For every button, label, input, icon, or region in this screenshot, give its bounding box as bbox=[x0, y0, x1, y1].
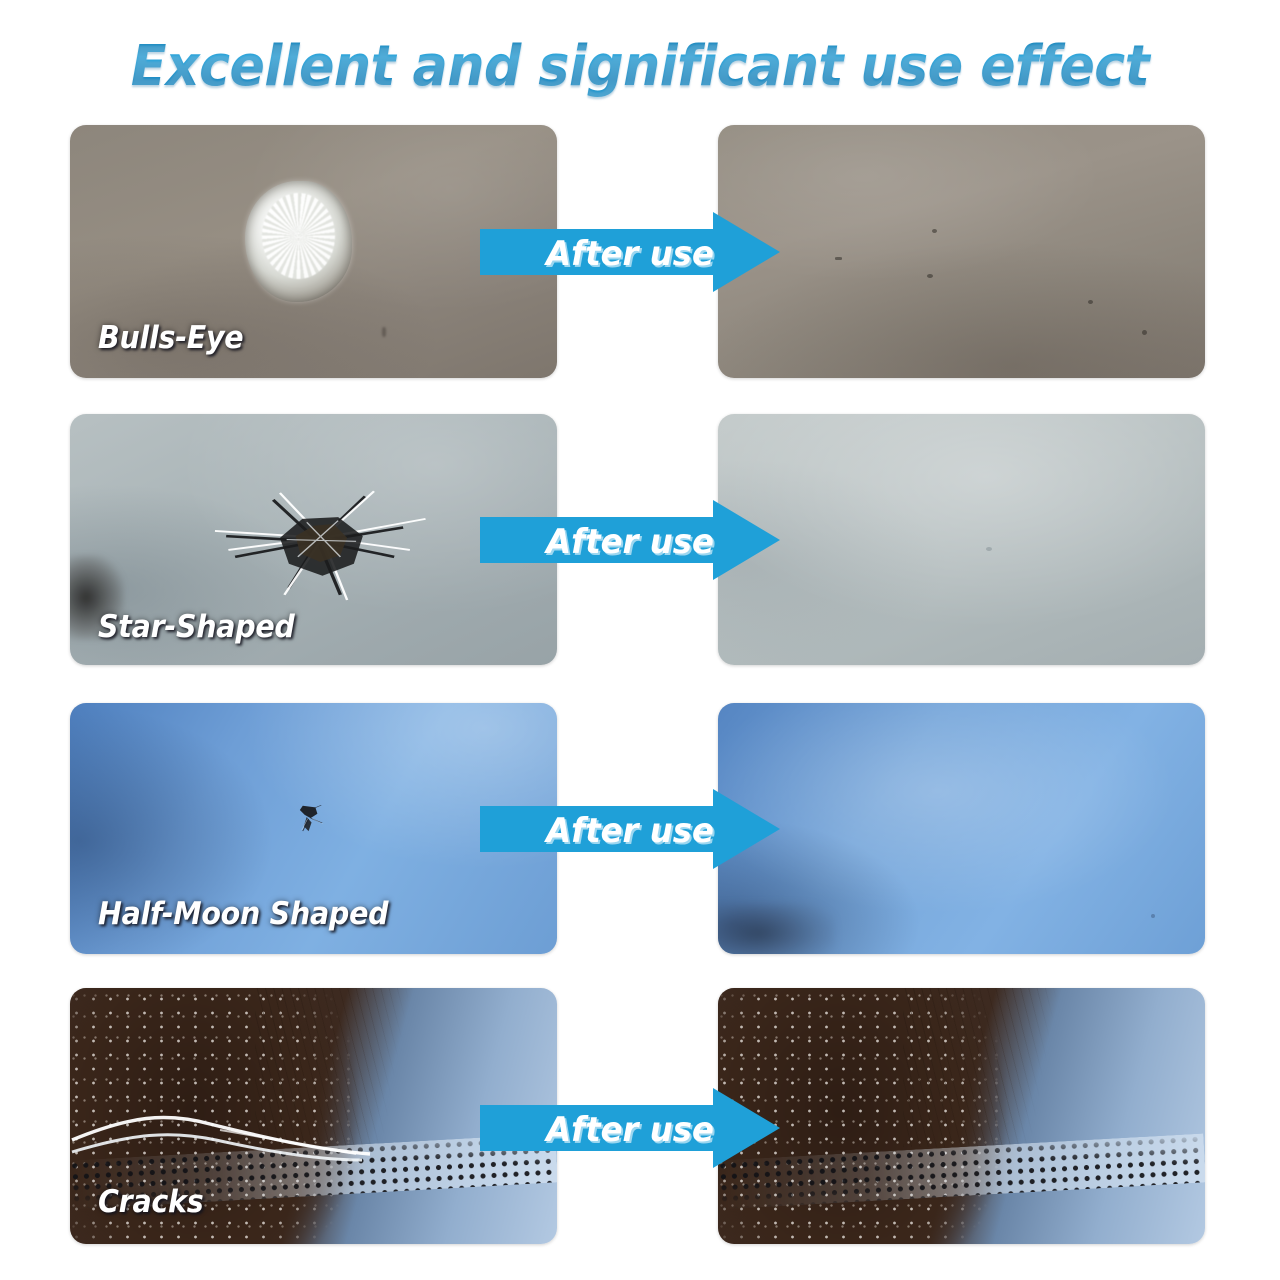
comparison-row-bulls-eye: Bulls-Eye After use bbox=[0, 125, 1280, 378]
surface-speck bbox=[932, 229, 937, 233]
comparison-row-cracks: Cracks After use bbox=[0, 988, 1280, 1244]
surface-speck bbox=[986, 547, 992, 551]
surface-speck bbox=[1142, 330, 1147, 335]
comparison-row-half-moon: Half-Moon Shaped After use bbox=[0, 703, 1280, 954]
page-title: Excellent and significant use effect bbox=[45, 34, 1235, 99]
before-image-cracks: Cracks bbox=[70, 988, 557, 1244]
edge-blur-blob bbox=[718, 904, 835, 954]
windshield-texture-clean bbox=[718, 125, 1205, 378]
surface-speck bbox=[382, 327, 386, 337]
after-image-star-shaped bbox=[718, 414, 1205, 665]
before-image-half-moon: Half-Moon Shaped bbox=[70, 703, 557, 954]
after-image-half-moon bbox=[718, 703, 1205, 954]
row-label-half-moon: Half-Moon Shaped bbox=[98, 896, 388, 932]
surface-speck bbox=[1088, 300, 1093, 304]
after-image-bulls-eye bbox=[718, 125, 1205, 378]
after-image-cracks bbox=[718, 988, 1205, 1244]
half-moon-chip-icon bbox=[294, 803, 323, 838]
row-label-bulls-eye: Bulls-Eye bbox=[98, 320, 243, 356]
infographic-page: Excellent and significant use effect Exc… bbox=[0, 0, 1280, 1280]
windshield-texture-clean bbox=[718, 414, 1205, 665]
row-label-cracks: Cracks bbox=[98, 1184, 203, 1220]
comparison-row-star-shaped: Star-Shaped After use bbox=[0, 414, 1280, 665]
before-image-bulls-eye: Bulls-Eye bbox=[70, 125, 557, 378]
surface-speck bbox=[835, 257, 842, 260]
row-label-star-shaped: Star-Shaped bbox=[98, 609, 295, 645]
foliage-wisps bbox=[903, 988, 1069, 1147]
star-crack-icon bbox=[206, 474, 430, 612]
before-image-star-shaped: Star-Shaped bbox=[70, 414, 557, 665]
